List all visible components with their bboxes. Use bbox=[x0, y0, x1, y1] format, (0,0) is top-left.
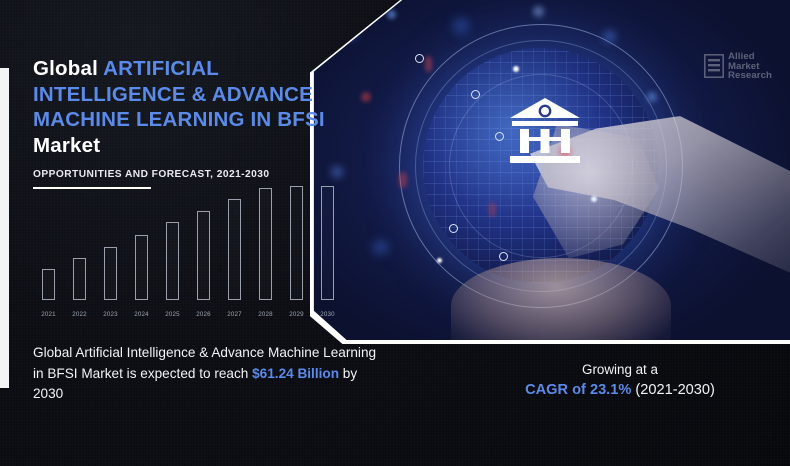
chart-bar bbox=[166, 222, 179, 300]
cagr-line-1: Growing at a bbox=[470, 362, 770, 377]
chart-bars bbox=[33, 186, 343, 300]
chart-x-label: 2029 bbox=[281, 311, 312, 318]
chart-x-label: 2022 bbox=[64, 311, 95, 318]
bar-slot bbox=[312, 186, 343, 300]
particle-field bbox=[303, 0, 790, 340]
chart-bar bbox=[259, 188, 272, 300]
bar-slot bbox=[33, 186, 64, 300]
logo-wordmark: Allied Market Research bbox=[728, 52, 772, 81]
left-text-column: Global ARTIFICIAL INTELLIGENCE & ADVANCE… bbox=[33, 56, 363, 189]
bar-slot bbox=[250, 186, 281, 300]
bar-slot bbox=[157, 186, 188, 300]
bar-slot bbox=[219, 186, 250, 300]
chart-x-label: 2021 bbox=[33, 311, 64, 318]
chart-bar bbox=[197, 211, 210, 300]
bank-building-icon bbox=[506, 96, 584, 166]
chart-x-label: 2025 bbox=[157, 311, 188, 318]
chart-x-label: 2023 bbox=[95, 311, 126, 318]
bar-slot bbox=[126, 186, 157, 300]
bar-slot bbox=[95, 186, 126, 300]
cagr-callout: Growing at a CAGR of 23.1% (2021-2030) bbox=[470, 362, 770, 398]
chart-bar bbox=[321, 186, 334, 300]
logo-line-3: Research bbox=[728, 71, 772, 81]
allied-market-research-logo: Allied Market Research bbox=[704, 52, 772, 81]
left-accent-strip bbox=[0, 68, 9, 388]
bar-slot bbox=[64, 186, 95, 300]
cagr-highlight: CAGR of 23.1% bbox=[525, 382, 631, 398]
chart-bar bbox=[135, 235, 148, 300]
market-statement: Global Artificial Intelligence & Advance… bbox=[33, 343, 383, 405]
chart-x-label: 2026 bbox=[188, 311, 219, 318]
title-lead: Global bbox=[33, 57, 98, 80]
bar-chart-logo-icon bbox=[704, 54, 724, 78]
cagr-period: (2021-2030) bbox=[631, 382, 715, 398]
chart-x-label: 2028 bbox=[250, 311, 281, 318]
chart-bar bbox=[42, 269, 55, 300]
title-tail: Market bbox=[33, 134, 100, 157]
cagr-line-2: CAGR of 23.1% (2021-2030) bbox=[470, 382, 770, 398]
infographic-banner: Allied Market Research Global ARTIFICIAL… bbox=[0, 0, 790, 466]
bar-slot bbox=[188, 186, 219, 300]
chart-x-label: 2027 bbox=[219, 311, 250, 318]
chart-bar bbox=[228, 199, 241, 300]
statement-highlight: $61.24 Billion bbox=[252, 366, 339, 381]
chart-x-axis-labels: 2021202220232024202520262027202820292030 bbox=[33, 311, 343, 318]
page-subtitle: OPPORTUNITIES AND FORECAST, 2021-2030 bbox=[33, 169, 363, 180]
forecast-bar-chart: 2021202220232024202520262027202820292030 bbox=[33, 186, 343, 318]
chart-bar bbox=[104, 247, 117, 300]
chart-bar bbox=[73, 258, 86, 300]
chart-x-label: 2024 bbox=[126, 311, 157, 318]
panel-artwork bbox=[303, 0, 790, 340]
chart-x-label: 2030 bbox=[312, 311, 343, 318]
page-title: Global ARTIFICIAL INTELLIGENCE & ADVANCE… bbox=[33, 56, 363, 158]
bar-slot bbox=[281, 186, 312, 300]
chart-bar bbox=[290, 186, 303, 300]
